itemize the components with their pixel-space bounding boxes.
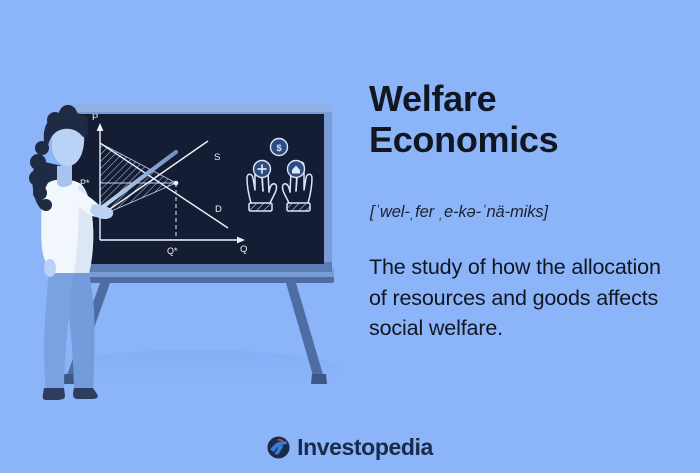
dollar-badge: $ [271, 139, 288, 156]
shoe-left [43, 388, 65, 400]
axis-x-label: Q [240, 244, 247, 255]
demand-curve-label: D [215, 204, 222, 215]
svg-text:$: $ [276, 143, 282, 154]
investopedia-logo-icon [267, 436, 290, 459]
chalkboard: P Q P* Q* S D [62, 104, 334, 384]
infographic-canvas: P Q P* Q* S D [0, 0, 700, 473]
brand-footer: Investopedia [0, 436, 700, 459]
home-badge [288, 161, 305, 178]
supply-curve-label: S [214, 152, 220, 163]
definition-text: The study of how the allocation of resou… [369, 252, 669, 344]
definition-panel: Welfare Economics [ˈwel-ˌfer ˌe-kə-ˈnä-m… [366, 0, 700, 420]
board-frame-highlight [64, 104, 332, 112]
equilibrium-point [174, 181, 179, 186]
shoe-right [73, 388, 98, 399]
neck [57, 166, 72, 187]
page-title: Welfare Economics [369, 78, 689, 160]
title-line-2: Economics [369, 119, 689, 160]
title-line-1: Welfare [369, 78, 689, 119]
illustration-scene: P Q P* Q* S D [0, 0, 360, 473]
plus-badge [254, 161, 271, 178]
pronunciation-text: [ˈwel-ˌfer ˌe-kə-ˈnä-miks] [370, 203, 690, 222]
equilibrium-quantity-label: Q* [167, 246, 178, 256]
brand-name: Investopedia [297, 436, 433, 459]
hand-left [44, 259, 56, 277]
